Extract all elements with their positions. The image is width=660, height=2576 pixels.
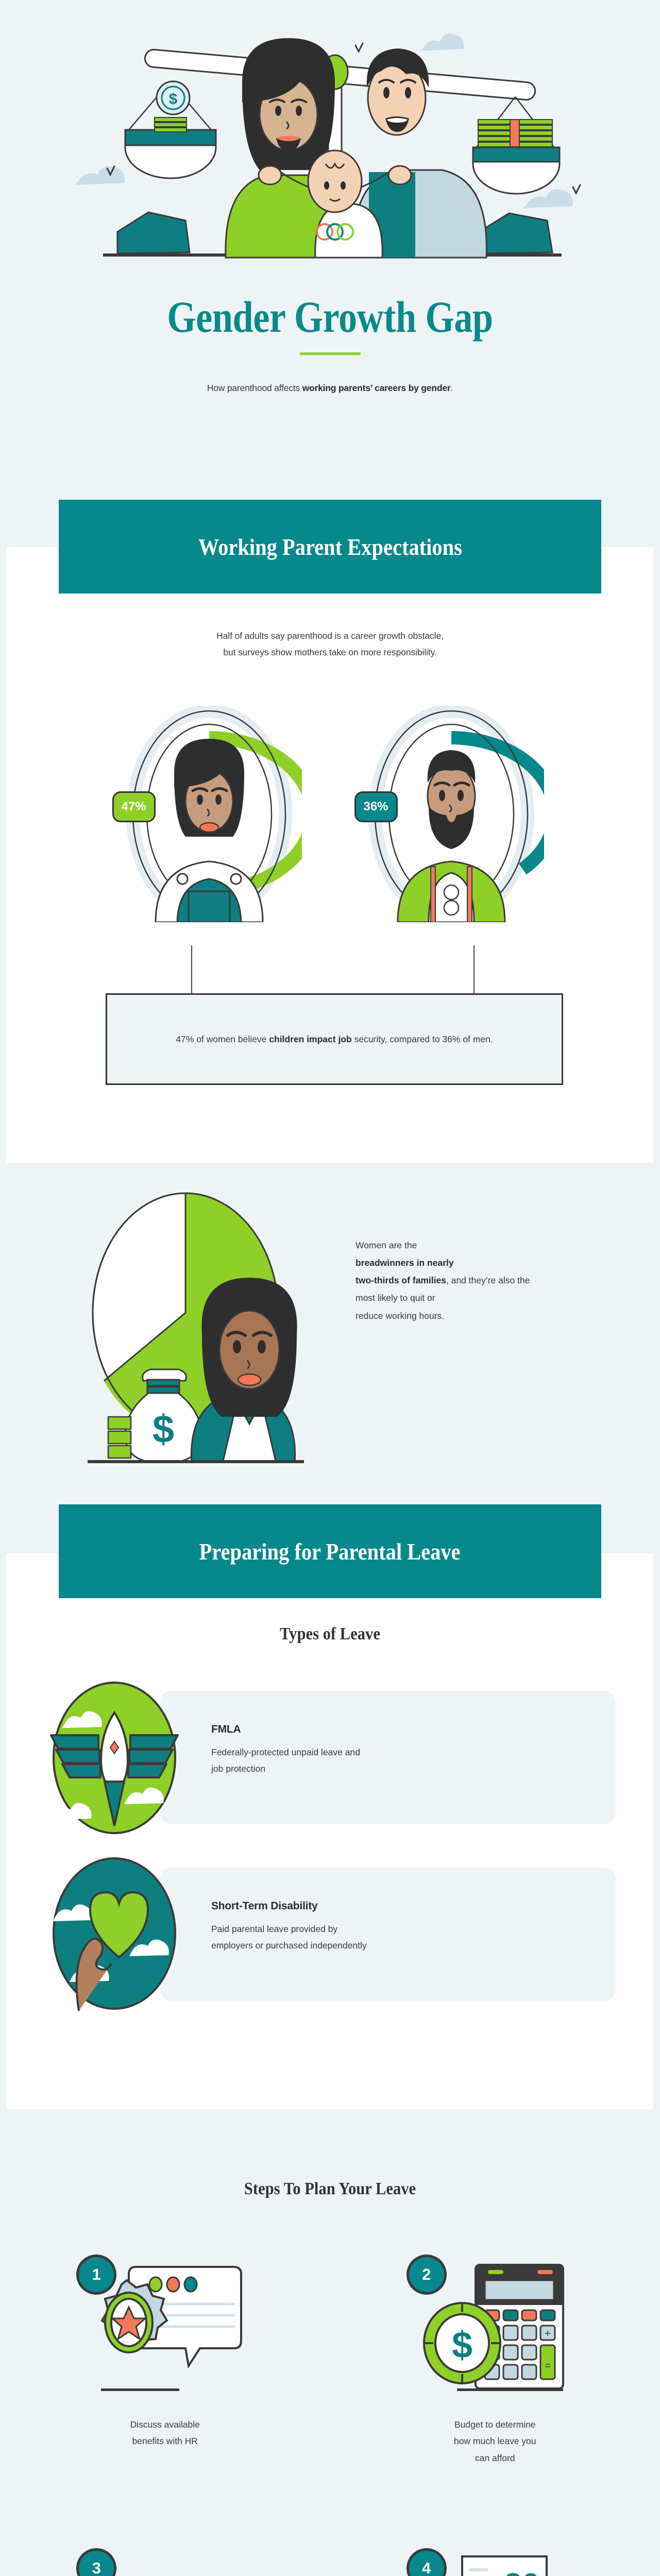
infographic-page: $ bbox=[0, 0, 660, 2576]
donut-men-value: 36% bbox=[363, 800, 388, 814]
section-header-label: Working Parent Expectations bbox=[198, 533, 462, 561]
callout-emphasis: children impact job bbox=[269, 1034, 351, 1044]
hero-illustration: $ bbox=[0, 0, 660, 289]
title-block: Gender Growth Gap How parenthood affects… bbox=[0, 289, 660, 394]
callout-prefix: 47% of women believe bbox=[176, 1034, 269, 1044]
svg-text:$: $ bbox=[153, 1408, 174, 1451]
section-header-working-parent-expectations: Working Parent Expectations bbox=[59, 500, 601, 594]
leader-line-men bbox=[473, 945, 475, 993]
step-item-2: 2 bbox=[382, 2210, 608, 2473]
donut-men-value-badge: 36% bbox=[354, 791, 398, 822]
step-caption-1: Discuss available benefits with HR bbox=[52, 2416, 278, 2450]
step1-line1: Discuss available bbox=[130, 2419, 200, 2430]
notice-days-number: 30 bbox=[504, 2567, 539, 2576]
donut-women-value: 47% bbox=[121, 800, 146, 814]
section-header-preparing-for-parental-leave: Preparing for Parental Leave bbox=[59, 1504, 601, 1598]
page-title: Gender Growth Gap bbox=[53, 294, 607, 340]
callout-stat-box: 47% of women believe children impact job… bbox=[106, 993, 563, 1085]
step-number-4: 4 bbox=[407, 2548, 447, 2576]
breadwinner-line1: Women are the bbox=[356, 1240, 417, 1250]
donut-gauge-chart: 47% bbox=[0, 706, 660, 922]
fmla-desc-line2: job protection bbox=[211, 1764, 265, 1774]
step-item-3: 3 bbox=[52, 2504, 278, 2576]
step-item-1: 1 Discuss available benefits with HR bbox=[52, 2210, 278, 2473]
svg-text:=: = bbox=[545, 2360, 551, 2371]
steps-grid: 1 Discuss available benefits with HR bbox=[0, 2210, 660, 2576]
donut-women-value-badge: 47% bbox=[112, 791, 156, 822]
step2-line1: Budget to determine bbox=[454, 2419, 536, 2430]
step-number-1: 1 bbox=[76, 2255, 116, 2295]
callout-text: 47% of women believe children impact job… bbox=[176, 1031, 493, 1047]
section1-lead-line2: but surveys show mothers take on more re… bbox=[0, 644, 660, 660]
step-number-3: 3 bbox=[76, 2548, 116, 2576]
step-item-4: 4 30 Provide 30-day bbox=[382, 2504, 608, 2576]
bird-wings-icon bbox=[49, 1681, 180, 1835]
subtitle-suffix: . bbox=[451, 383, 453, 393]
subtitle-prefix: How parenthood affects bbox=[207, 383, 302, 393]
svg-text:+: + bbox=[545, 2328, 551, 2340]
leave-type-title-fmla: FMLA bbox=[211, 1723, 572, 1736]
breadwinner-pie-chart: $ bbox=[57, 1185, 376, 1463]
leave-type-body-fmla: FMLA Federally-protected unpaid leave an… bbox=[211, 1723, 572, 1777]
leader-line-women bbox=[191, 945, 192, 993]
step2-line3: can afford bbox=[475, 2453, 515, 2463]
svg-text:$: $ bbox=[452, 2325, 472, 2366]
leave-type-desc-std: Paid parental leave provided by employer… bbox=[211, 1921, 572, 1954]
hand-heart-icon bbox=[49, 1856, 180, 2011]
breadwinner-bold1: breadwinners in nearly bbox=[356, 1258, 454, 1268]
section-header-label-2: Preparing for Parental Leave bbox=[199, 1538, 461, 1565]
svg-text:$: $ bbox=[169, 91, 178, 108]
callout-suffix: security, compared to 36% of men. bbox=[352, 1034, 493, 1044]
steps-heading: Steps To Plan Your Leave bbox=[33, 2179, 627, 2199]
step1-line2: benefits with HR bbox=[132, 2436, 198, 2446]
leave-type-desc-fmla: Federally-protected unpaid leave and job… bbox=[211, 1744, 572, 1777]
page-subtitle: How parenthood affects working parents’ … bbox=[0, 383, 660, 394]
step2-line2: how much leave you bbox=[454, 2436, 536, 2446]
leave-type-title-std: Short-Term Disability bbox=[211, 1900, 572, 1912]
step-caption-2: Budget to determine how much leave you c… bbox=[382, 2416, 608, 2466]
breadwinner-line2: , and they’re also the bbox=[446, 1275, 530, 1285]
title-divider bbox=[300, 352, 361, 355]
donut-men: 36% bbox=[359, 706, 544, 922]
breadwinner-text: Women are the breadwinners in nearly two… bbox=[356, 1236, 556, 1325]
breadwinner-line4: reduce working hours. bbox=[356, 1311, 444, 1321]
std-desc-line1: Paid parental leave provided by bbox=[211, 1924, 337, 1934]
breadwinner-line3: most likely to quit or bbox=[356, 1293, 435, 1303]
std-desc-line2: employers or purchased independently bbox=[211, 1940, 367, 1951]
donut-women: 47% bbox=[116, 706, 302, 922]
subtitle-emphasis: working parents’ careers by gender bbox=[302, 383, 451, 393]
step-number-2: 2 bbox=[407, 2255, 447, 2295]
breadwinner-block: $ bbox=[0, 1185, 660, 1463]
fmla-desc-line1: Federally-protected unpaid leave and bbox=[211, 1747, 360, 1757]
scale-balance-family-art: $ bbox=[0, 0, 660, 289]
section1-lead-line1: Half of adults say parenthood is a caree… bbox=[0, 628, 660, 644]
types-of-leave-heading: Types of Leave bbox=[33, 1624, 627, 1644]
leave-type-body-std: Short-Term Disability Paid parental leav… bbox=[211, 1900, 572, 1954]
breadwinner-bold2: two-thirds of families bbox=[356, 1275, 446, 1285]
